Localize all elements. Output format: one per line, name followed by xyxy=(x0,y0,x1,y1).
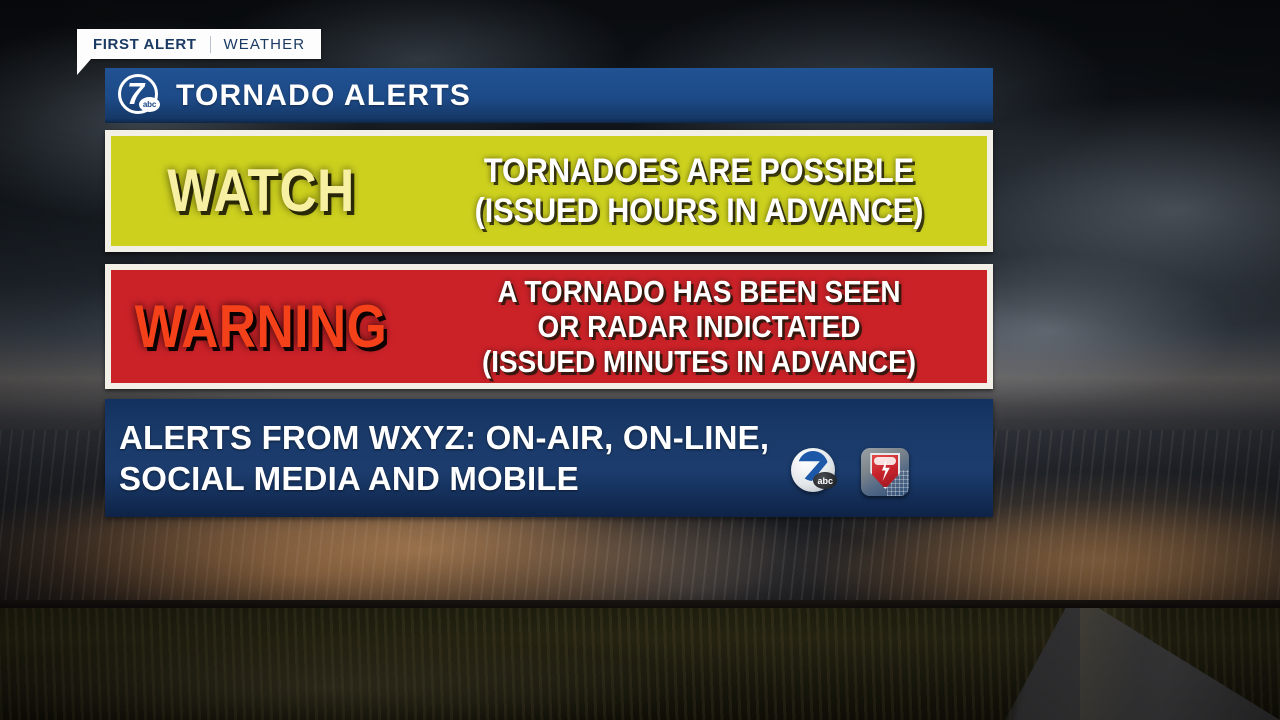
tag-pointer-tail xyxy=(77,59,91,75)
alert-description-watch: TORNADOES ARE POSSIBLE (ISSUED HOURS IN … xyxy=(440,151,958,231)
watch-line-1: TORNADOES ARE POSSIBLE xyxy=(440,151,958,191)
warning-line-3: (ISSUED MINUTES IN ADVANCE) xyxy=(440,344,958,379)
app-icon-row: abc xyxy=(791,448,909,496)
alert-sources-panel: ALERTS FROM WXYZ: ON-AIR, ON-LINE, SOCIA… xyxy=(105,399,993,517)
brand-primary-label: FIRST ALERT xyxy=(93,36,197,53)
alert-level-watch: WATCH xyxy=(132,161,390,221)
wxyz-7abc-logo-icon: 7 abc xyxy=(117,73,163,119)
logo-abc-badge: abc xyxy=(813,472,837,489)
storm-shield-app-icon[interactable] xyxy=(861,448,909,496)
first-alert-weather-tag: FIRST ALERT WEATHER xyxy=(77,29,321,59)
wxyz-7abc-app-icon[interactable]: abc xyxy=(791,448,839,496)
alert-sources-text: ALERTS FROM WXYZ: ON-AIR, ON-LINE, SOCIA… xyxy=(119,417,769,499)
brand-secondary-label: WEATHER xyxy=(224,36,306,53)
header-bar: 7 abc TORNADO ALERTS xyxy=(105,68,993,123)
warning-line-2: OR RADAR INDICTATED xyxy=(440,309,958,344)
alert-level-warning: WARNING xyxy=(132,297,390,357)
warning-line-1: A TORNADO HAS BEEN SEEN xyxy=(440,274,958,309)
logo-abc-oval: abc xyxy=(139,97,160,112)
weather-graphic-stage: FIRST ALERT WEATHER 7 abc TORNADO ALERTS… xyxy=(0,0,1280,720)
sources-line-1: ALERTS FROM WXYZ: ON-AIR, ON-LINE, xyxy=(119,417,769,458)
sources-line-2: SOCIAL MEDIA AND MOBILE xyxy=(119,458,769,499)
alert-description-warning: A TORNADO HAS BEEN SEEN OR RADAR INDICTA… xyxy=(440,274,958,379)
watch-line-2: (ISSUED HOURS IN ADVANCE) xyxy=(440,191,958,231)
page-title: TORNADO ALERTS xyxy=(176,79,471,113)
alert-panel-watch: WATCH TORNADOES ARE POSSIBLE (ISSUED HOU… xyxy=(105,130,993,252)
brand-divider xyxy=(210,36,211,53)
alert-panel-warning: WARNING A TORNADO HAS BEEN SEEN OR RADAR… xyxy=(105,264,993,389)
